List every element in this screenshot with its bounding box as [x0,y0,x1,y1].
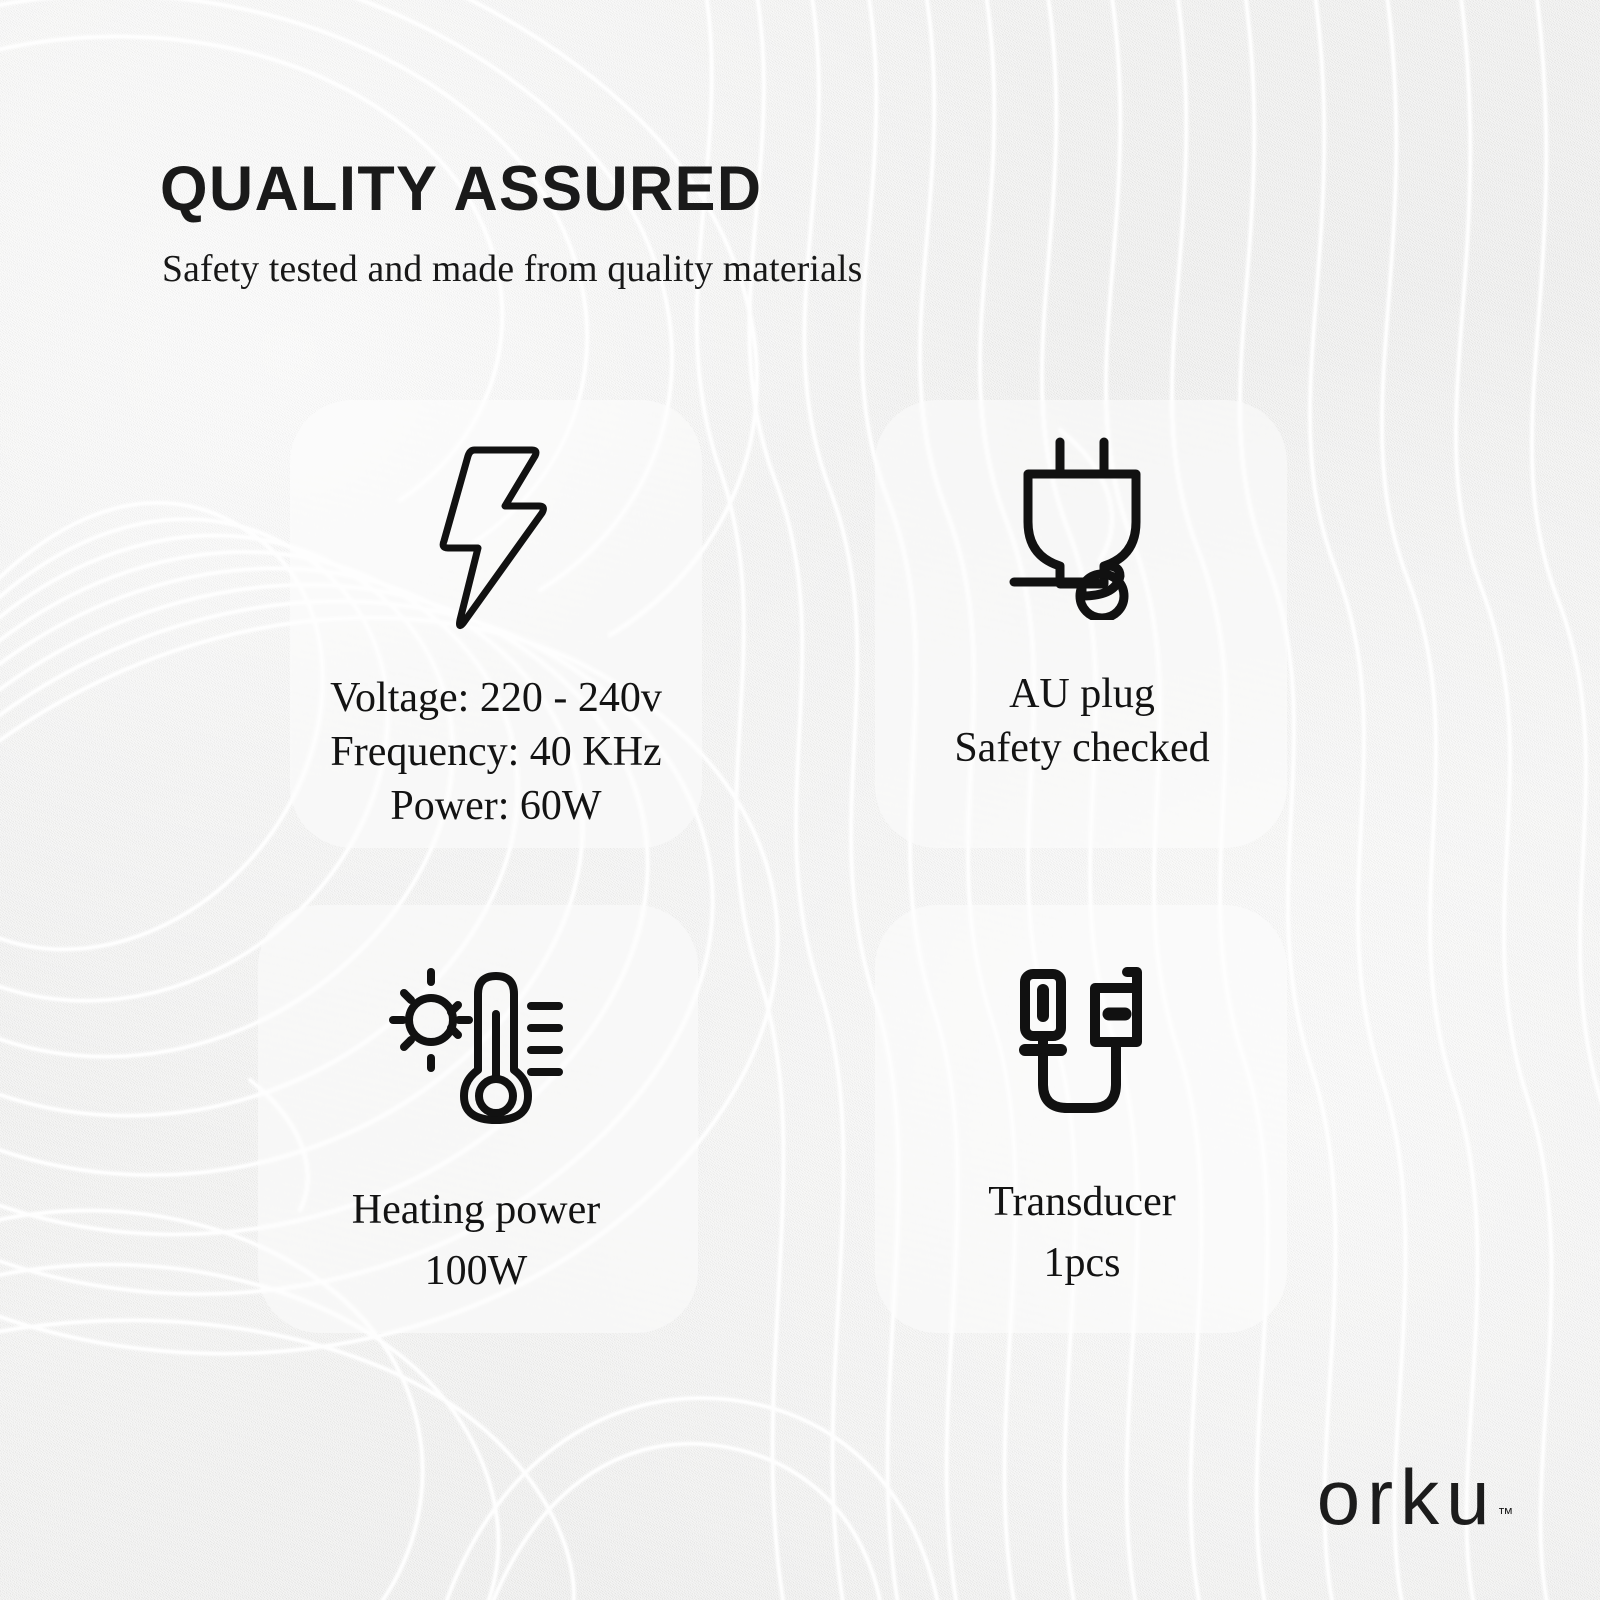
feature-plug-caption: AU plug Safety checked [954,668,1209,776]
transducer-cable-icon [997,958,1167,1120]
infographic-page: QUALITY ASSURED Safety tested and made f… [0,0,1600,1600]
feature-heating-caption: Heating power 100W [352,1180,600,1302]
caption-line: Safety checked [954,722,1209,776]
caption-line: Heating power [352,1180,600,1241]
feature-voltage-caption: Voltage: 220 - 240v Frequency: 40 KHz Po… [330,672,662,833]
feature-voltage: Voltage: 220 - 240v Frequency: 40 KHz Po… [286,440,706,833]
brand-logo: orku ™ [1317,1462,1514,1532]
page-title: QUALITY ASSURED [160,158,1227,221]
trademark-symbol: ™ [1498,1506,1515,1524]
caption-line: 100W [352,1241,600,1302]
feature-plug: AU plug Safety checked [872,430,1292,776]
caption-line: 1pcs [988,1233,1175,1294]
feature-transducer-caption: Transducer 1pcs [988,1172,1175,1294]
page-subtitle: Safety tested and made from quality mate… [162,249,1249,291]
brand-wordmark: orku [1317,1462,1497,1532]
caption-line: AU plug [954,668,1209,722]
header: QUALITY ASSURED Safety tested and made f… [160,158,1260,291]
feature-heating: Heating power 100W [266,958,686,1302]
power-plug-icon [992,430,1172,620]
caption-line: Voltage: 220 - 240v [330,672,662,726]
caption-line: Transducer [988,1172,1175,1233]
thermometer-sun-icon [381,958,571,1130]
feature-transducer: Transducer 1pcs [872,958,1292,1294]
lightning-bolt-icon [408,440,584,630]
caption-line: Frequency: 40 KHz [330,726,662,780]
caption-line: Power: 60W [330,780,662,834]
